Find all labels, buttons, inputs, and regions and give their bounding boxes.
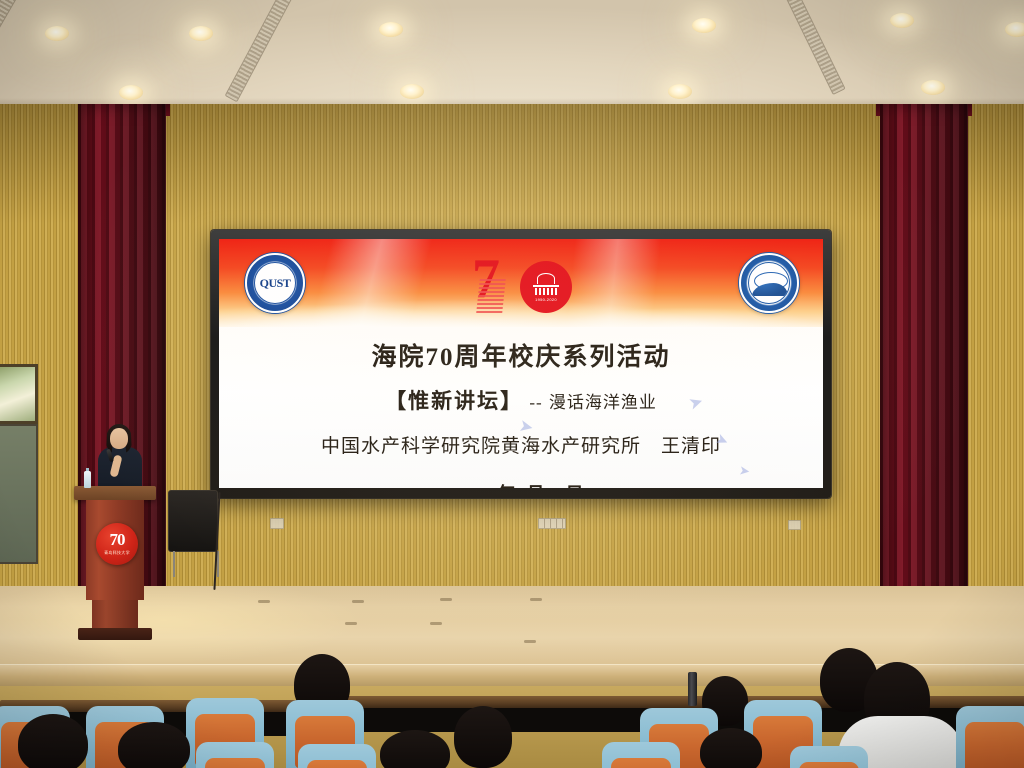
qust-university-seal-logo: QUST xyxy=(245,253,305,313)
audience-head xyxy=(454,706,512,768)
audience-head xyxy=(700,728,762,768)
podium-anniversary-emblem: 70 青岛科技大学 xyxy=(96,523,138,565)
slide-title: 海院70周年校庆系列活动 xyxy=(219,337,823,373)
chair-pad xyxy=(965,722,1024,768)
stage-curtain-right xyxy=(880,104,968,604)
podium-emblem-text: 青岛科技大学 xyxy=(104,550,130,556)
audience-desk-ledge xyxy=(330,696,674,708)
yellow-sea-fisheries-institute-seal-logo xyxy=(739,253,799,313)
side-wall-panel xyxy=(0,424,38,564)
led-screen: QUST 7 1950-2020 海院70周年校庆系列活动 xyxy=(211,230,831,498)
stage-chair xyxy=(168,490,218,552)
ceiling-downlight xyxy=(400,84,424,99)
outlet-plate xyxy=(270,518,284,529)
slide-subtitle-dash: -- xyxy=(529,393,542,412)
anniversary-seven-halftone xyxy=(476,279,506,313)
ceiling-downlight xyxy=(1005,22,1024,37)
floor-marking xyxy=(440,598,452,601)
switch-plate xyxy=(538,518,566,529)
ceiling-downlight xyxy=(45,26,69,41)
podium-top-surface xyxy=(74,486,156,500)
slide-subtitle: 【惟新讲坛】 -- 漫话海洋渔业 xyxy=(219,385,823,415)
thermos-flask xyxy=(688,672,697,706)
slide-date: 2020年9月22日 xyxy=(219,480,823,488)
ceiling-downlight xyxy=(890,13,914,28)
podium-emblem-number: 70 xyxy=(110,532,125,547)
slide-forum-name: 【惟新讲坛】 xyxy=(385,389,523,413)
podium-base xyxy=(78,628,152,640)
ceiling-downlight xyxy=(668,84,692,99)
lecture-hall-photo: QUST 7 1950-2020 海院70周年校庆系列活动 xyxy=(0,0,1024,768)
slide-text-block: 海院70周年校庆系列活动 【惟新讲坛】 -- 漫话海洋渔业 中国水产科学研究院黄… xyxy=(219,331,823,488)
side-window xyxy=(0,364,38,424)
floor-marking xyxy=(345,622,357,625)
anniversary-70-logo: 7 1950-2020 xyxy=(468,249,574,319)
audience-chair xyxy=(298,738,376,768)
audience-chair xyxy=(790,740,868,768)
ceiling-downlight xyxy=(921,80,945,95)
chair-pad xyxy=(205,758,265,768)
ceiling xyxy=(0,0,1024,112)
speaker-head xyxy=(110,428,128,449)
anniversary-year-range: 1950-2020 xyxy=(535,297,557,302)
ysfri-seal-graphic xyxy=(748,262,790,304)
chair-pad xyxy=(799,762,859,768)
audience-chair xyxy=(602,736,680,768)
screen-surface: QUST 7 1950-2020 海院70周年校庆系列活动 xyxy=(219,239,823,488)
anniversary-bar-glyph xyxy=(533,285,559,287)
floor-marking xyxy=(258,600,270,603)
ceiling-downlight xyxy=(119,85,143,100)
floor-marking xyxy=(430,622,442,625)
anniversary-zero-disc: 1950-2020 xyxy=(520,261,572,313)
ceiling-downlight xyxy=(189,26,213,41)
chair-pad xyxy=(307,760,367,768)
outlet-plate xyxy=(788,520,801,530)
podium-stem xyxy=(92,600,138,630)
slide-subtitle-topic: 漫话海洋渔业 xyxy=(549,393,657,412)
bird-watermark-icon: ➤ xyxy=(738,462,751,479)
ceiling-downlight xyxy=(692,18,716,33)
audience-chair xyxy=(956,700,1024,768)
water-bottle xyxy=(84,471,91,488)
floor-marking xyxy=(352,600,364,603)
anniversary-arch-glyph xyxy=(537,273,555,284)
chair-pad xyxy=(611,758,671,768)
anniversary-steps-glyph xyxy=(535,288,557,295)
audience-chair xyxy=(196,736,274,768)
qust-seal-initials: QUST xyxy=(254,262,296,304)
floor-marking xyxy=(524,640,536,643)
ceiling-downlight xyxy=(379,22,403,37)
audience-head xyxy=(18,714,88,768)
floor-marking xyxy=(530,598,542,601)
audience-head xyxy=(118,722,190,768)
